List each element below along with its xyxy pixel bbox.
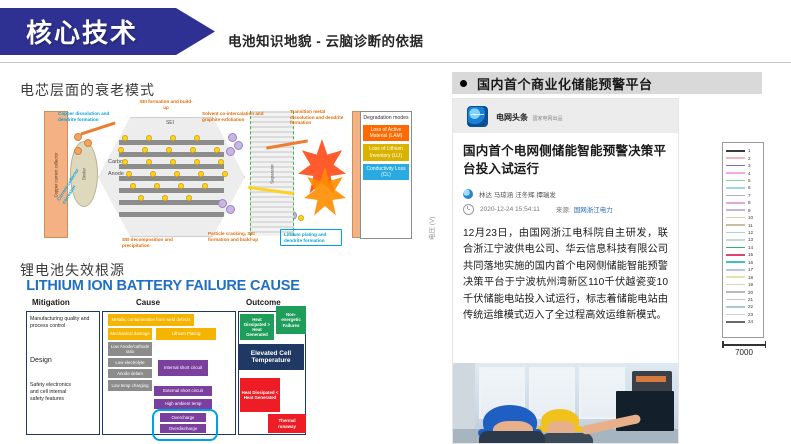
legend-swatch [726, 306, 745, 308]
legend-entry-22: 22 [726, 303, 760, 310]
header-banner: 核心技术 [0, 8, 215, 55]
outcome-non-energetic-failures: Non-energetic Failures [276, 306, 306, 334]
chart-y-axis-label: 电压 (V) [426, 217, 436, 240]
news-source-label: 来源: [556, 204, 571, 214]
cause-lithium-plating: Lithium Plating [156, 328, 216, 340]
outcome-elevated-cell-temperature: Elevated Cell Temperature [238, 344, 304, 370]
legend-label: 7 [748, 193, 751, 198]
legend-swatch [726, 202, 745, 204]
cause-high-ambient-temp: High ambient temp [154, 399, 212, 409]
legend-entry-21: 21 [726, 296, 760, 303]
legend-label: 20 [748, 290, 753, 295]
news-source-value[interactable]: 国网浙江电力 [574, 204, 613, 214]
legend-entry-12: 12 [726, 229, 760, 236]
legend-label: 18 [748, 275, 753, 280]
legend-entry-1: 1 [726, 147, 760, 154]
degradation-modes-legend: Degradation modes Loss of Active Materia… [360, 111, 412, 239]
legend-label: 6 [748, 185, 751, 190]
news-source-subtitle: 国家电网出品 [532, 116, 562, 122]
outcome-heat-dissipated-lt: Heat Dissipated < Heat Generated [240, 378, 280, 412]
legend-label: 3 [748, 163, 751, 168]
figure-cell-aging-modes: Copper current collector Aluminium curre… [22, 103, 402, 251]
highlight-ring-overcharge [152, 409, 218, 441]
legend-entry-15: 15 [726, 251, 760, 258]
legend-entry-17: 17 [726, 266, 760, 273]
clock-icon [463, 204, 474, 215]
annotation-lithium-plating: Lithium plating and dendrite formation [280, 229, 342, 246]
legend-label: 8 [748, 200, 751, 205]
legend-label: 5 [748, 178, 751, 183]
legend-swatch [726, 224, 745, 226]
slide-root: 核心技术 电池知识地貌 - 云脑诊断的依据 电芯层面的衰老模式 锂电池失效根源 … [0, 0, 791, 444]
chart-legend: 123456789101112131415161718192021222324 [722, 142, 764, 338]
cause-low-electrolyte: Low electrolyte [108, 358, 152, 367]
cause-anode-delam: Anode delam [108, 369, 152, 378]
news-meta: 2020-12-24 15:54:11 来源: 国网浙江电力 [463, 204, 668, 215]
legend-entry-6: 6 [726, 184, 760, 191]
degradation-mode-lli: Loss of Lithium Inventory (LLI) [363, 144, 409, 161]
outcome-thermal-runaway: Thermal runaway [268, 414, 306, 433]
legend-entry-18: 18 [726, 273, 760, 280]
legend-swatch [726, 232, 745, 234]
legend-entry-11: 11 [726, 221, 760, 228]
legend-swatch [726, 314, 745, 316]
news-source-row: 电网头条 国家电网出品 [453, 99, 678, 133]
legend-swatch [726, 254, 745, 256]
legend-entry-9: 9 [726, 207, 760, 214]
legend-label: 11 [748, 223, 753, 228]
scale-bar-label: 7000 [722, 348, 766, 357]
legend-entry-8: 8 [726, 199, 760, 206]
legend-swatch [726, 269, 745, 271]
news-source-name: 电网头条 [496, 113, 528, 122]
news-headline: 国内首个电网侧储能智能预警决策平台投入试运行 [463, 143, 668, 179]
legend-label: 22 [748, 304, 753, 309]
legend-label: 21 [748, 297, 753, 302]
figure-failure-cause: LITHIUM ION BATTERY FAILURE CAUSE Mitiga… [18, 278, 308, 438]
legend-label: 19 [748, 282, 753, 287]
legend-label: 14 [748, 245, 753, 250]
legend-entry-14: 14 [726, 244, 760, 251]
legend-swatch [726, 209, 745, 211]
legend-swatch [726, 321, 745, 323]
legend-label: 15 [748, 252, 753, 257]
annotation-transition-metal: Transition metal dissolution and dendrit… [290, 109, 348, 126]
legend-label: 9 [748, 208, 751, 213]
photo-body-1 [479, 431, 545, 443]
news-byline: 林达 马琼涵 汪冬辉 撢瑞发 [463, 189, 668, 199]
legend-label: 2 [748, 156, 751, 161]
legend-swatch [726, 239, 745, 241]
annotation-particle-cracking: Particle cracking, SEI formation and bui… [208, 231, 270, 242]
header-divider [0, 62, 791, 63]
column-head-cause: Cause [136, 298, 160, 307]
legend-entry-4: 4 [726, 169, 760, 176]
news-photo [453, 363, 678, 443]
globe-icon [467, 106, 488, 127]
degradation-mode-lam: Loss of Active Material (LAM) [363, 125, 409, 142]
legend-entry-16: 16 [726, 259, 760, 266]
header-banner-label: 核心技术 [26, 13, 138, 50]
annotation-solvent-cointercalation: Solvent co-intercalation and graphite ex… [202, 111, 264, 122]
mitigation-item-1: Manufacturing quality and process contro… [30, 316, 94, 330]
news-body: 12月23日，由国网浙江电科院自主研发，联合浙江宁波供电公司、华云信息科技有限公… [463, 226, 668, 325]
bullet-icon [460, 80, 467, 87]
legend-swatch [726, 247, 745, 249]
legend-entry-5: 5 [726, 177, 760, 184]
legend-swatch [726, 165, 745, 167]
legend-entry-24: 24 [726, 318, 760, 325]
legend-label: 23 [748, 312, 753, 317]
legend-swatch [726, 284, 745, 286]
scale-bar-line [722, 344, 766, 346]
mitigation-item-3: Safety electronics and cell internal saf… [30, 382, 76, 403]
legend-swatch [726, 180, 745, 182]
right-section-title: 国内首个商业化储能预警平台 [477, 74, 653, 93]
legend-entry-7: 7 [726, 192, 760, 199]
legend-entry-13: 13 [726, 236, 760, 243]
cause-low-anode-cathode-ratio: Low Anode/cathode ratio [108, 342, 152, 356]
legend-entry-20: 20 [726, 288, 760, 295]
legend-label: 17 [748, 267, 753, 272]
anode-label: Anode [108, 171, 124, 177]
legend-entry-3: 3 [726, 162, 760, 169]
left-heading-aging: 电芯层面的衰老模式 [20, 80, 155, 100]
news-authors: 林达 马琼涵 汪冬辉 撢瑞发 [479, 189, 556, 199]
degradation-modes-title: Degradation modes [363, 115, 409, 122]
annotation-sei-decomposition: SEI decomposition and precipitation [122, 237, 184, 248]
left-heading-failure: 锂电池失效根源 [20, 260, 125, 280]
legend-swatch [726, 195, 745, 197]
news-card[interactable]: 电网头条 国家电网出品 国内首个电网侧储能智能预警决策平台投入试运行 林达 马琼… [452, 98, 679, 444]
legend-swatch [726, 172, 745, 174]
legend-entry-23: 23 [726, 311, 760, 318]
legend-entry-2: 2 [726, 154, 760, 161]
legend-label: 4 [748, 171, 751, 176]
legend-swatch [726, 261, 745, 263]
legend-label: 1 [748, 148, 751, 153]
cause-mechanical-damage: Mechanical damage [108, 328, 152, 340]
avatar [463, 189, 473, 199]
legend-label: 24 [748, 319, 753, 324]
mitigation-item-2: Design [30, 356, 94, 365]
legend-entry-19: 19 [726, 281, 760, 288]
right-section-header: 国内首个商业化储能预警平台 [452, 72, 762, 94]
copper-current-collector: Copper current collector [44, 111, 68, 238]
separator-region: Separator [250, 111, 294, 236]
legend-swatch [726, 150, 745, 152]
column-head-mitigation: Mitigation [32, 298, 70, 307]
legend-swatch [726, 276, 745, 278]
legend-swatch [726, 217, 745, 219]
legend-label: 13 [748, 237, 753, 242]
legend-swatch [726, 299, 745, 301]
legend-entry-10: 10 [726, 214, 760, 221]
cause-metallic-contamination: Metallic contamination from weld defects [108, 314, 194, 326]
legend-label: 12 [748, 230, 753, 235]
outcome-heat-dissipated-gt: Heat Dissipated > Heat Generated [240, 314, 274, 340]
page-title: 电池知识地貌 - 云脑诊断的依据 [228, 30, 424, 50]
legend-swatch [726, 187, 745, 189]
news-datetime: 2020-12-24 15:54:11 [480, 206, 540, 213]
legend-swatch [726, 157, 745, 159]
annotation-copper-dissolution: Copper dissolution and dendrite formatio… [58, 111, 120, 122]
annotation-sei-formation: SEI formation and build-up [138, 99, 194, 110]
cause-low-temp-charging: Low temp charging [108, 380, 152, 391]
cause-internal-short-circuit: Internal short circuit [158, 360, 208, 376]
legend-swatch [726, 291, 745, 293]
legend-label: 10 [748, 215, 753, 220]
chart-scale-bar: 7000 [722, 344, 766, 357]
cause-external-short-circuit: External short circuit [154, 386, 212, 396]
legend-label: 16 [748, 260, 753, 265]
failure-diagram-title: LITHIUM ION BATTERY FAILURE CAUSE [18, 278, 308, 294]
degradation-mode-cl: Conductivity Loss (CL) [363, 164, 409, 181]
